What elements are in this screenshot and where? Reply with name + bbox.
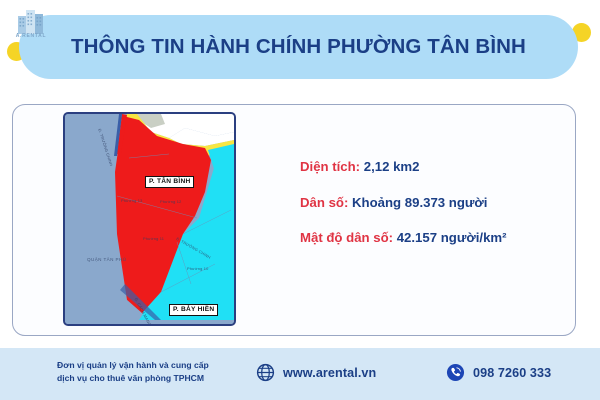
map-label-bay-hien: P. BẢY HIỀN [169, 304, 218, 316]
administrative-map: P. TÂN BÌNH P. BẢY HIỀN QUẬN TÂN PHÚ Đ. … [63, 112, 236, 326]
stat-label-density: Mật độ dân số: [300, 230, 393, 245]
stat-label-area: Diện tích: [300, 159, 360, 174]
footer-phone-link[interactable]: 098 7260 333 [446, 363, 551, 382]
map-ward-number-3: Phường 11 [143, 236, 164, 241]
map-graphic [65, 114, 234, 324]
title-pill: THÔNG TIN HÀNH CHÍNH PHƯỜNG TÂN BÌNH [19, 15, 578, 79]
brand-logo: A.RENTAL [10, 8, 52, 44]
stat-value-population: Khoảng 89.373 người [352, 195, 487, 210]
stat-label-population: Dân số: [300, 195, 348, 210]
map-ward-number-1: Phường 13 [121, 198, 142, 203]
statistics-list: Diện tích: 2,12 km2 Dân số: Khoảng 89.37… [300, 160, 570, 246]
logo-wordmark: A.RENTAL [10, 33, 52, 39]
footer-website-text: www.arental.vn [283, 366, 376, 380]
map-label-tan-binh: P. TÂN BÌNH [145, 176, 194, 188]
building-icon [14, 8, 48, 34]
footer-website-link[interactable]: www.arental.vn [256, 363, 376, 382]
page-title: THÔNG TIN HÀNH CHÍNH PHƯỜNG TÂN BÌNH [71, 35, 526, 59]
stat-row-area: Diện tích: 2,12 km2 [300, 160, 570, 175]
stat-row-density: Mật độ dân số: 42.157 người/km² [300, 231, 570, 246]
globe-icon [256, 363, 275, 382]
footer-phone-text: 098 7260 333 [473, 366, 551, 380]
map-ward-number-4: Phường 10 [187, 266, 208, 271]
footer-tagline: Đơn vị quản lý vận hành và cung cấp dịch… [57, 359, 209, 386]
map-ward-number-2: Phường 12 [160, 199, 181, 204]
footer-tagline-line2: dịch vụ cho thuê văn phòng TPHCM [57, 372, 209, 385]
map-label-quan-tan-phu: QUẬN TÂN PHÚ [87, 257, 126, 262]
phone-icon [446, 363, 465, 382]
stat-value-density: 42.157 người/km² [397, 230, 507, 245]
title-banner: THÔNG TIN HÀNH CHÍNH PHƯỜNG TÂN BÌNH [0, 0, 600, 92]
footer-tagline-line1: Đơn vị quản lý vận hành và cung cấp [57, 359, 209, 372]
stat-row-population: Dân số: Khoảng 89.373 người [300, 196, 570, 211]
stat-value-area: 2,12 km2 [364, 159, 420, 174]
